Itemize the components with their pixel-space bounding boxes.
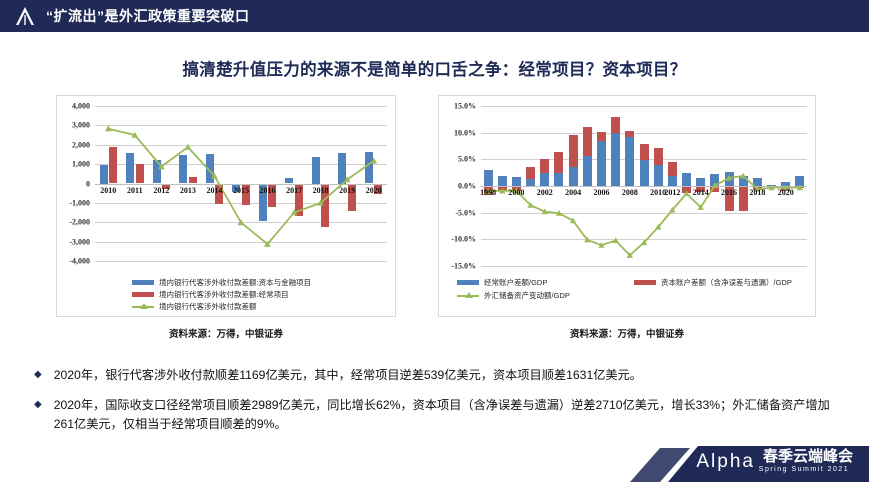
chart-bar [554,152,563,173]
legend-line-swatch [132,306,154,308]
chart-bar [365,152,373,184]
y-axis-label: 0.0% [439,182,476,191]
chart-bar [668,176,677,186]
legend-bar-swatch [634,280,656,285]
x-axis-label: 2000 [500,188,532,197]
x-axis-label: 2012 [656,188,688,197]
x-axis-label: 2014 [685,188,717,197]
line-marker [131,132,138,138]
left-source-note: 资料来源：万得，中银证券 [56,326,396,340]
right-source-note: 资料来源：万得，中银证券 [438,326,816,340]
y-axis-label: -2,000 [57,218,90,227]
chart-legend: 经常账户差额/GDP资本账户差额（含净误差与遗漏）/GDP外汇储备资产变动额/G… [457,276,811,302]
chart-bar [668,162,677,176]
chart-bar [540,173,549,186]
legend-label: 境内银行代客涉外收付款差额:经常项目 [159,289,289,300]
y-axis-label: -10.0% [439,235,476,244]
chart-bar [795,176,804,186]
chart-bar [583,127,592,155]
y-axis-label: -4,000 [57,257,90,266]
legend-item[interactable]: 资本账户差额（含净误差与遗漏）/GDP [634,277,811,288]
gridline [95,222,387,223]
chart-legend: 境内银行代客涉外收付款差额:资本与金融项目境内银行代客涉外收付款差额:经常项目境… [132,276,391,313]
page-title: 搞清楚升值压力的来源不是简单的口舌之争：经常项目？资本项目？ [0,56,869,80]
x-axis-label: 2008 [614,188,646,197]
y-axis-label: 4,000 [57,102,90,111]
legend-label: 经常账户差额/GDP [484,277,547,288]
chart-bar [753,178,762,186]
chart-bar [540,159,549,173]
legend-label: 外汇储备资产变动额/GDP [484,290,570,301]
chart-bar [710,174,719,186]
y-axis-label: -15.0% [439,262,476,271]
legend-item[interactable]: 境内银行代客涉外收付款差额:资本与金融项目 [132,277,391,288]
line-marker [527,202,533,208]
chart-bar [597,141,606,186]
legend-bar-swatch [132,292,154,297]
gridline [481,106,807,107]
chart-bar [484,170,493,186]
chart-bar [654,165,663,186]
footer-subtitle: Spring Summit 2021 [759,466,849,473]
footer-brand-group: Alpha 春季云端峰会 Spring Summit 2021 [696,449,853,473]
gridline [481,266,807,267]
gridline [95,242,387,243]
y-axis-label: 10.0% [439,128,476,137]
bullet-text: 2020年，银行代客涉外收付款顺差1169亿美元，其中，经常项目逆差539亿美元… [54,366,642,385]
gridline [95,125,387,126]
chart-bar [498,176,507,186]
bullet-item: ◆ 2020年，国际收支口径经常项目顺差2989亿美元，同比增长62%，资本项目… [34,396,834,434]
x-axis-label: 2020 [770,188,802,197]
y-axis-label: -1,000 [57,198,90,207]
chart-bar [611,117,620,132]
bullet-item: ◆ 2020年，银行代客涉外收付款顺差1169亿美元，其中，经常项目逆差539亿… [34,366,834,385]
chart-bar [583,156,592,186]
left-chart: 4,0003,0002,0001,0000-1,000-2,000-3,000-… [57,96,395,318]
bullet-text: 2020年，国际收支口径经常项目顺差2989亿美元，同比增长62%，资本项目（含… [54,396,834,434]
header-title: “扩流出”是外汇政策重要突破口 [46,6,250,26]
zero-axis-line [95,184,387,185]
footer-brand: Alpha [696,451,755,473]
chart-bar [179,155,187,183]
y-axis-label: 5.0% [439,155,476,164]
x-axis-label: 2006 [585,188,617,197]
y-axis-label: 15.0% [439,102,476,111]
line-marker [698,204,704,210]
y-axis-label: -5.0% [439,208,476,217]
line-marker [627,252,633,258]
gridline [481,133,807,134]
chart-bar [569,167,578,186]
right-chart: 15.0%10.0%5.0%0.0%-5.0%-10.0%-15.0%19982… [439,96,815,318]
y-axis-label: -3,000 [57,237,90,246]
zero-axis-line [481,186,807,187]
alpha-mark-icon [14,5,36,27]
chart-bar [126,153,134,183]
chart-bar [625,137,634,186]
line-marker [570,218,576,224]
x-axis-label: 1998 [472,188,504,197]
legend-label: 境内银行代客涉外收付款差额 [159,301,257,312]
chart-bar [206,154,214,183]
legend-bar-swatch [132,280,154,285]
legend-line-swatch [457,295,479,297]
slide-header: “扩流出”是外汇政策重要突破口 [0,0,869,32]
y-axis-label: 0 [57,179,90,188]
chart-bar [654,148,663,166]
chart-bar [597,132,606,142]
chart-bar [100,165,108,183]
legend-item[interactable]: 外汇储备资产变动额/GDP [457,290,811,301]
legend-label: 资本账户差额（含净误差与遗漏）/GDP [661,277,792,288]
legend-item[interactable]: 境内银行代客涉外收付款差额:经常项目 [132,289,391,300]
legend-bar-swatch [457,280,479,285]
chart-bar [625,131,634,138]
chart-bar [554,173,563,186]
legend-item[interactable]: 境内银行代客涉外收付款差额 [132,301,391,312]
chart-bar [512,177,521,186]
x-axis-label: 2016 [713,188,745,197]
line-marker [655,224,661,230]
chart-bar [189,177,197,184]
chart-bar [338,153,346,183]
chart-bar [725,172,734,186]
bullet-marker: ◆ [34,366,42,383]
chart-bar [569,135,578,168]
gridline [95,261,387,262]
left-chart-panel: 4,0003,0002,0001,0000-1,000-2,000-3,000-… [56,95,396,317]
chart-bar [109,147,117,183]
chart-bar [611,133,620,186]
legend-label: 境内银行代客涉外收付款差额:资本与金融项目 [159,277,311,288]
chart-bar [526,167,535,179]
y-axis-label: 2,000 [57,140,90,149]
chart-bar [312,157,320,183]
chart-bar [640,160,649,186]
x-axis-label: 2020 [358,186,390,195]
slide-footer: Alpha 春季云端峰会 Spring Summit 2021 [630,440,869,482]
gridline [95,106,387,107]
y-axis-label: 1,000 [57,160,90,169]
gridline [481,213,807,214]
x-axis-label: 2018 [741,188,773,197]
x-axis-label: 2002 [529,188,561,197]
x-axis-label: 2004 [557,188,589,197]
legend-item[interactable]: 经常账户差额/GDP [457,277,634,288]
y-axis-label: 3,000 [57,121,90,130]
right-chart-panel: 15.0%10.0%5.0%0.0%-5.0%-10.0%-15.0%19982… [438,95,816,317]
gridline [481,239,807,240]
chart-bar [696,178,705,186]
bullet-marker: ◆ [34,396,42,413]
chart-bar [739,176,748,186]
chart-bar [136,164,144,183]
chart-bar [640,144,649,160]
chart-bar [153,160,161,184]
gridline [95,145,387,146]
chart-bar [682,173,691,186]
footer-cn-title: 春季云端峰会 [763,449,853,464]
chart-bar [526,179,535,186]
line-marker [598,242,604,248]
